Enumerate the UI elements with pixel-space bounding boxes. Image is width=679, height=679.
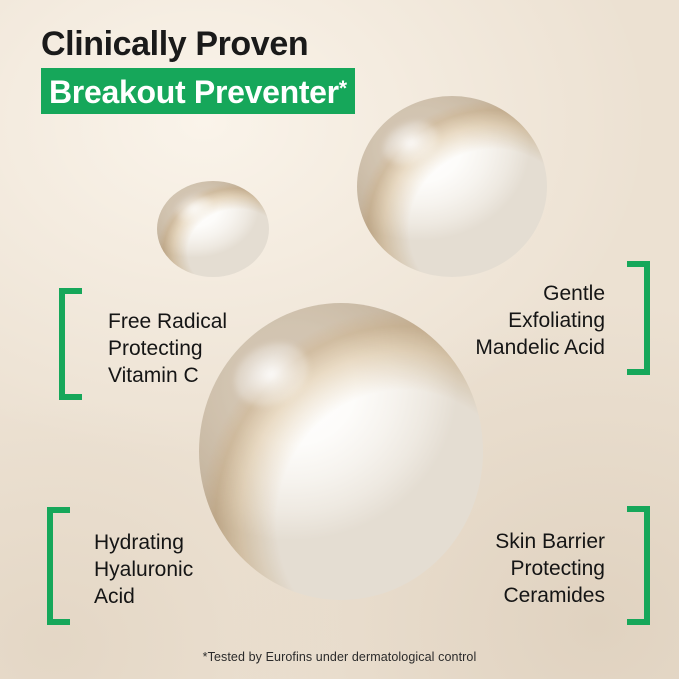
callout-line: Protecting xyxy=(108,335,227,362)
large-serum-droplet xyxy=(199,303,483,600)
droplet-golden-rim xyxy=(199,303,483,600)
callout-ceramides: Skin Barrier Protecting Ceramides xyxy=(495,506,650,625)
droplet-golden-rim xyxy=(157,181,269,277)
callout-mandelic-acid-text: Gentle Exfoliating Mandelic Acid xyxy=(475,280,605,375)
droplet-golden-rim xyxy=(357,96,547,277)
bracket-right-icon xyxy=(627,261,650,375)
small-serum-droplet xyxy=(157,181,269,277)
callout-line: Hydrating xyxy=(94,529,193,556)
bracket-left-icon xyxy=(47,507,70,625)
callout-hyaluronic-acid: Hydrating Hyaluronic Acid xyxy=(47,507,193,625)
callout-line: Ceramides xyxy=(495,582,605,609)
headline-line-2-text: Breakout Preventer xyxy=(49,74,339,110)
callout-line: Gentle xyxy=(475,280,605,307)
callout-mandelic-acid: Gentle Exfoliating Mandelic Acid xyxy=(475,261,650,375)
bracket-left-icon xyxy=(59,288,82,400)
callout-vitamin-c: Free Radical Protecting Vitamin C xyxy=(59,288,227,400)
bracket-right-icon xyxy=(627,506,650,625)
callout-line: Skin Barrier xyxy=(495,528,605,555)
headline-asterisk: * xyxy=(339,77,347,100)
callout-line: Hyaluronic xyxy=(94,556,193,583)
callout-line: Exfoliating xyxy=(475,307,605,334)
callout-line: Vitamin C xyxy=(108,362,227,389)
callout-hyaluronic-acid-text: Hydrating Hyaluronic Acid xyxy=(94,529,193,625)
product-claim-poster: Clinically Proven Breakout Preventer* Fr… xyxy=(0,0,679,679)
callout-line: Free Radical xyxy=(108,308,227,335)
footnote-disclaimer: *Tested by Eurofins under dermatological… xyxy=(0,650,679,664)
headline-block: Clinically Proven Breakout Preventer* xyxy=(41,24,355,114)
callout-line: Protecting xyxy=(495,555,605,582)
headline-highlight-band: Breakout Preventer* xyxy=(41,68,355,114)
callout-ceramides-text: Skin Barrier Protecting Ceramides xyxy=(495,528,605,625)
callout-line: Acid xyxy=(94,583,193,610)
medium-serum-droplet xyxy=(357,96,547,277)
callout-line: Mandelic Acid xyxy=(475,334,605,361)
headline-line-2: Breakout Preventer* xyxy=(49,72,347,109)
callout-vitamin-c-text: Free Radical Protecting Vitamin C xyxy=(108,308,227,400)
headline-line-1: Clinically Proven xyxy=(41,24,355,64)
